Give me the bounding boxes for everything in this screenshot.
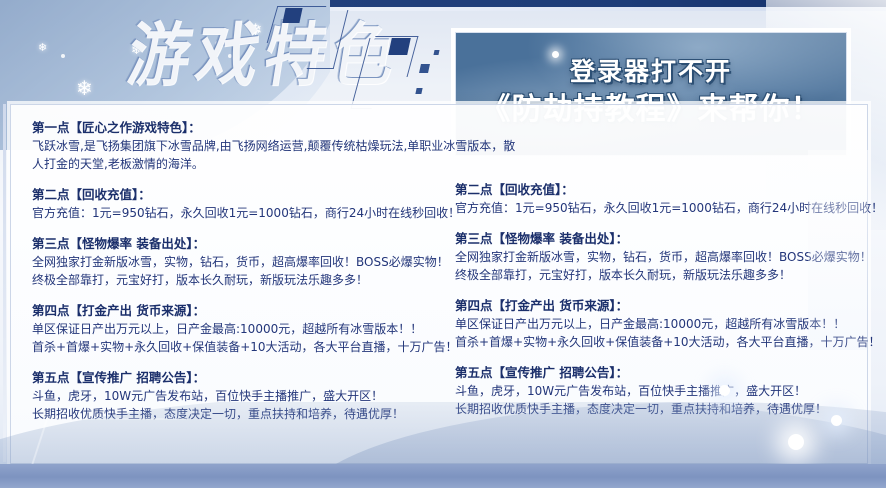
snow-dot [61, 54, 65, 58]
feature-block-heading: 第三点【怪物爆率 装备出处】： [32, 234, 452, 253]
feature-block-line: 斗鱼，虎牙，10W元广告发布站，百位快手主播推广，盛大开区！ [455, 382, 855, 400]
art-square [433, 50, 439, 55]
feature-block-line: 全网独家打金新版冰雪，实物，钻石，货币，超高爆率回收！BOSS必爆实物！ [32, 253, 452, 271]
feature-block-heading: 第三点【怪物爆率 装备出处】： [455, 229, 855, 248]
feature-block-line: 全网独家打金新版冰雪，实物，钻石，货币，超高爆率回收！BOSS必爆实物！ [455, 248, 855, 266]
feature-block-heading: 第一点【匠心之作游戏特色】： [32, 118, 452, 137]
bottom-accent-band [0, 464, 886, 488]
feature-block-line: 首杀+首爆+实物+永久回收+保值装备+10大活动，各大平台直播，十万广告！ [455, 333, 855, 351]
feature-block: 第二点【回收充值】：官方充值：1元=950钻石，永久回收1元=1000钻石，商行… [455, 180, 855, 217]
light-orb [719, 385, 730, 396]
feature-block-line: 单区保证日产出万元以上，日产金最高:10000元，超越所有冰雪版本！！ [32, 320, 452, 338]
light-orb [788, 434, 804, 450]
feature-block-line: 终极全部靠打，元宝好打，版本长久耐玩，新版玩法乐趣多多！ [32, 271, 452, 289]
feature-block-line: 人打金的天堂,老板激情的海洋。 [32, 155, 452, 173]
feature-column-right: 第二点【回收充值】：官方充值：1元=950钻石，永久回收1元=1000钻石，商行… [455, 104, 855, 430]
art-square [415, 88, 422, 94]
feature-block-heading: 第二点【回收充值】： [455, 180, 855, 199]
light-orb [831, 415, 842, 426]
feature-column-left: 第一点【匠心之作游戏特色】：飞跃冰雪,是飞扬集团旗下冰雪品牌,由飞扬网络运营,颠… [32, 104, 452, 435]
feature-block: 第三点【怪物爆率 装备出处】：全网独家打金新版冰雪，实物，钻石，货币，超高爆率回… [455, 229, 855, 284]
art-square [282, 8, 302, 23]
feature-block: 第四点【打金产出 货币来源】：单区保证日产出万元以上，日产金最高:10000元，… [455, 296, 855, 351]
feature-block-heading: 第二点【回收充值】： [32, 185, 452, 204]
feature-block-heading: 第五点【宣传推广 招聘公告】： [455, 363, 855, 382]
art-title-decoration: 游戏特色 [128, 12, 448, 104]
feature-block-line: 官方充值：1元=950钻石，永久回收1元=1000钻石，商行24小时在线秒回收！ [32, 204, 452, 222]
page-root: ❄ ❄ ❄ ❄ 游戏特色 登录器打不开 《防劫持教程》来帮你！ [0, 0, 886, 488]
promo-banner-line1: 登录器打不开 [456, 55, 846, 89]
right-glow-decoration [808, 150, 868, 350]
feature-block-line: 单区保证日产出万元以上，日产金最高:10000元，超越所有冰雪版本！！ [455, 315, 855, 333]
snowflake-icon: ❄ [76, 78, 93, 98]
feature-block: 第一点【匠心之作游戏特色】：飞跃冰雪,是飞扬集团旗下冰雪品牌,由飞扬网络运营,颠… [32, 118, 452, 173]
feature-block-line: 首杀+首爆+实物+永久回收+保值装备+10大活动，各大平台直播，十万广告！ [32, 338, 452, 356]
feature-block-line: 终极全部靠打，元宝好打，版本长久耐玩，新版玩法乐趣多多！ [455, 266, 855, 284]
art-square [419, 64, 430, 73]
art-square [388, 38, 411, 55]
feature-block-line: 飞跃冰雪,是飞扬集团旗下冰雪品牌,由飞扬网络运营,颠覆传统枯燥玩法,单职业冰雪版… [32, 137, 452, 155]
snowflake-icon: ❄ [38, 42, 47, 53]
feature-block: 第二点【回收充值】：官方充值：1元=950钻石，永久回收1元=1000钻石，商行… [32, 185, 452, 222]
feature-block: 第四点【打金产出 货币来源】：单区保证日产出万元以上，日产金最高:10000元，… [32, 301, 452, 356]
feature-block: 第三点【怪物爆率 装备出处】：全网独家打金新版冰雪，实物，钻石，货币，超高爆率回… [32, 234, 452, 289]
feature-block-heading: 第四点【打金产出 货币来源】： [32, 301, 452, 320]
feature-block-heading: 第四点【打金产出 货币来源】： [455, 296, 855, 315]
feature-block-heading: 第五点【宣传推广 招聘公告】： [32, 368, 452, 387]
feature-block-line: 官方充值：1元=950钻石，永久回收1元=1000钻石，商行24小时在线秒回收！ [455, 199, 855, 217]
